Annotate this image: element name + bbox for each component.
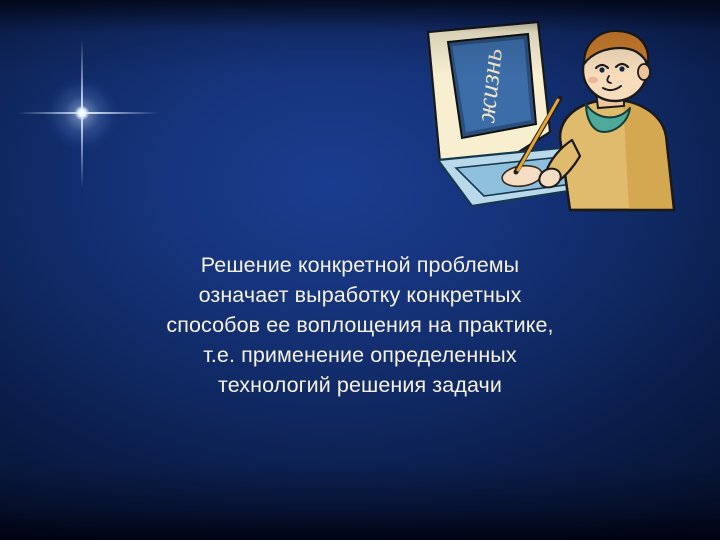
- sparkle-ray-horizontal: [18, 112, 158, 114]
- four-point-star-sparkle-icon: [18, 38, 158, 188]
- body-line-4: т.е. применение определенных: [60, 340, 660, 370]
- slide-body-text: Решение конкретной проблемы означает выр…: [60, 250, 660, 400]
- body-line-1: Решение конкретной проблемы: [60, 250, 660, 280]
- body-line-5: технологий решения задачи: [60, 370, 660, 400]
- slide: жизнь: [0, 0, 720, 540]
- body-line-3: способов ее воплощения на практике,: [60, 310, 660, 340]
- sparkle-ray-vertical: [81, 38, 83, 188]
- sparkle-glow: [46, 78, 118, 150]
- body-line-2: означает выработку конкретных: [60, 280, 660, 310]
- boy-drawing-at-easel-clipart: жизнь: [410, 20, 700, 220]
- sparkle-core: [75, 106, 89, 120]
